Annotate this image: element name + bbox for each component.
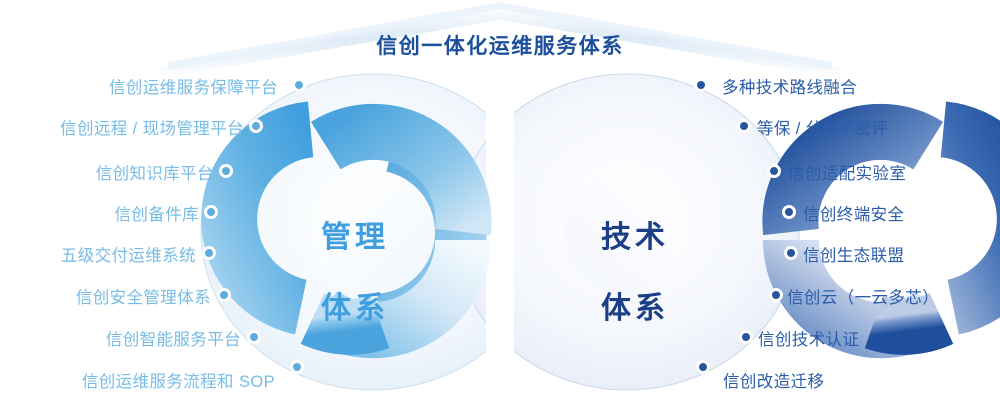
hub-caption-technology-line2: 体系 — [565, 291, 705, 326]
hub-caption-management-line1: 管理 — [285, 220, 425, 255]
service-label-left-2[interactable]: 信创远程 / 现场管理平台 — [60, 115, 244, 139]
service-label-left-6[interactable]: 信创安全管理体系 — [76, 284, 211, 308]
service-label-left-4[interactable]: 信创备件库 — [115, 201, 200, 225]
service-label-right-2[interactable]: 等保 / 分保 / 密评 — [757, 115, 888, 139]
page-title: 信创一体化运维服务体系 — [0, 30, 1000, 60]
hub-caption-management-line2: 体系 — [285, 291, 425, 326]
service-label-left-1[interactable]: 信创运维服务保障平台 — [109, 74, 278, 98]
service-label-right-3[interactable]: 信创适配实验室 — [788, 160, 906, 184]
service-label-left-3[interactable]: 信创知识库平台 — [96, 160, 214, 184]
service-label-left-7[interactable]: 信创智能服务平台 — [106, 326, 241, 350]
service-label-right-1[interactable]: 多种技术路线融合 — [722, 74, 857, 98]
service-label-left-5[interactable]: 五级交付运维系统 — [61, 242, 196, 266]
hub-caption-management: 管理 体系 — [285, 185, 425, 362]
hub-caption-technology: 技术 体系 — [565, 185, 705, 362]
service-label-right-5[interactable]: 信创生态联盟 — [803, 242, 904, 266]
hub-caption-technology-line1: 技术 — [565, 220, 705, 255]
infographic-canvas: 信创一体化运维服务体系 管理 体系 技术 体系 信创运维服务保障平台信创远程 /… — [0, 0, 1000, 408]
service-label-left-8[interactable]: 信创运维服务流程和 SOP — [82, 368, 275, 392]
service-label-right-6[interactable]: 信创云（一云多芯） — [787, 284, 939, 308]
service-label-right-7[interactable]: 信创技术认证 — [758, 326, 859, 350]
service-label-right-8[interactable]: 信创改造迁移 — [723, 368, 824, 392]
service-label-right-4[interactable]: 信创终端安全 — [803, 201, 904, 225]
